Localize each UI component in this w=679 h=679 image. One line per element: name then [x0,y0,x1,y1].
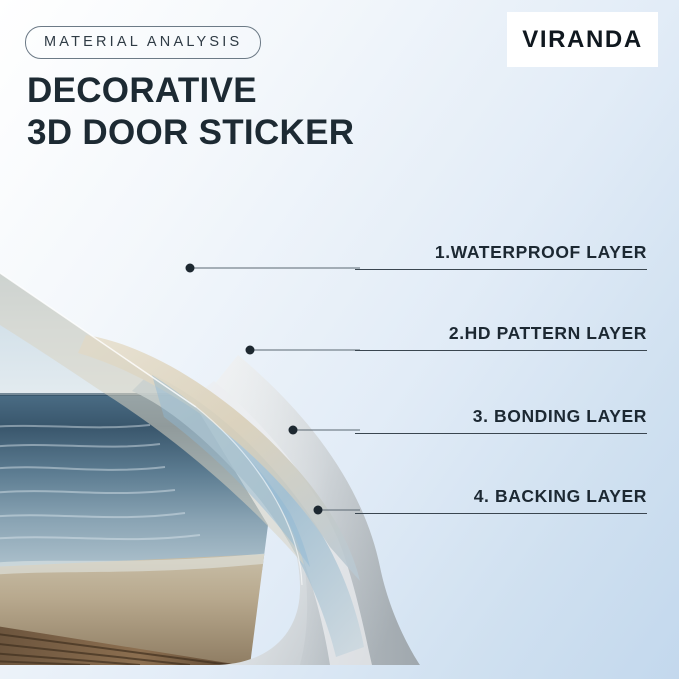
page-title: DECORATIVE 3D DOOR STICKER [27,70,354,154]
callout-hd-pattern-layer: 2.HD PATTERN LAYER [355,323,647,351]
callout-backing-layer: 4. BACKING LAYER [355,486,647,514]
brand-name: VIRANDA [522,26,643,54]
eyebrow-badge: MATERIAL ANALYSIS [25,26,261,59]
callout-waterproof-layer: 1.WATERPROOF LAYER [355,242,647,270]
callout-bonding-layer: 3. BONDING LAYER [355,406,647,434]
page-title-line-2: 3D DOOR STICKER [27,112,354,154]
poster-canvas: MATERIAL ANALYSIS DECORATIVE 3D DOOR STI… [0,0,679,679]
brand-logo-box: VIRANDA [507,12,658,67]
page-title-line-1: DECORATIVE [27,71,257,110]
